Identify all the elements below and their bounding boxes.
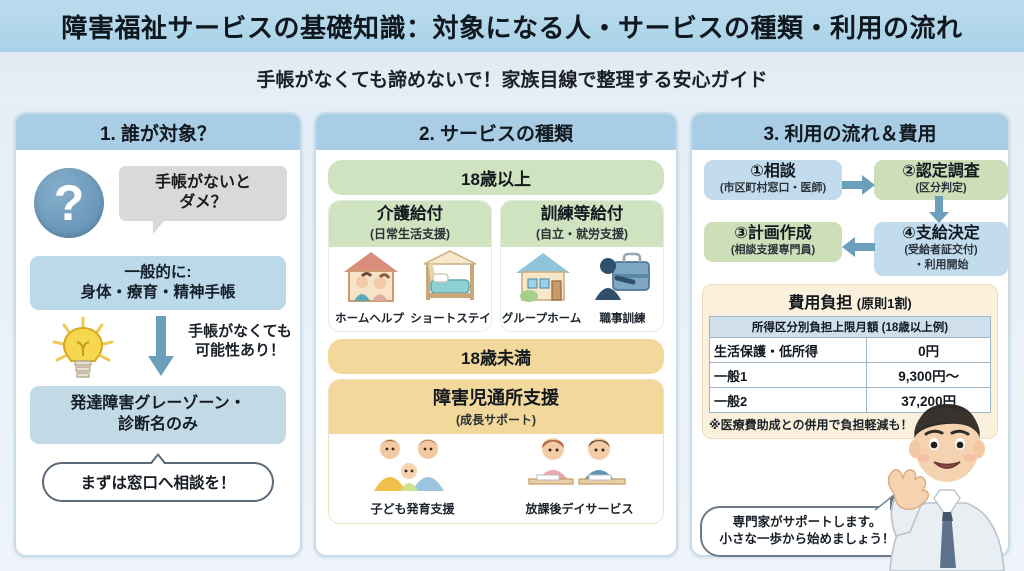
card-body-1: ? 手帳がないと ダメ？ 一般的に: 身体・療育・精神手帳 xyxy=(16,150,300,555)
cost-title-note: (原則1割) xyxy=(857,296,912,311)
flow-arrow-down-icon xyxy=(928,196,950,224)
general-criteria-line1: 一般的に: xyxy=(34,263,282,283)
child-service-sub: (成長サポート) xyxy=(331,411,661,428)
result-line1: 発達障害グレーゾーン・ xyxy=(34,394,282,415)
infographic-page: 障害福祉サービスの基礎知識：対象になる人・サービスの種類・利用の流れ 手帳がなく… xyxy=(0,0,1024,571)
cost-title-main: 費用負担 xyxy=(788,295,852,312)
flow-step-4-title: ④支給決定 xyxy=(878,225,1004,243)
service-training-labels: グループホーム 職事訓練 xyxy=(501,309,663,331)
cost-table-header: 所得区分別負担上限月額 (18歳以上例) xyxy=(710,317,991,338)
flow-step-3: ③計画作成 (相談支援専門員) xyxy=(704,222,842,262)
flow-step-2-title: ②認定調査 xyxy=(878,163,1004,181)
service-care-benefits: 介護給付 (日常生活支援) xyxy=(328,200,492,332)
service-care-sub: (日常生活支援) xyxy=(331,225,489,242)
flow-step-1: ①相談 (市区町村窓口・医師) xyxy=(704,160,842,200)
question-bubble-line1: 手帳がないと xyxy=(125,173,281,193)
flow-diagram: ①相談 (市区町村窓口・医師) ②認定調査 (区分判定) ④支給決定 (受給者証… xyxy=(702,160,998,280)
flow-step-3-title: ③計画作成 xyxy=(708,225,838,243)
card-heading-1: 1. 誰が対象？ xyxy=(16,114,300,150)
flow-step-1-sub: (市区町村窓口・医師) xyxy=(708,182,838,195)
flow-arrow-right-icon xyxy=(842,174,876,196)
page-subtitle: 手帳がなくても諦めないで！家族目線で整理する安心ガイド xyxy=(257,65,768,92)
card-heading-2: 2. サービスの種類 xyxy=(316,114,676,150)
smiling-man-waving-icon xyxy=(872,386,1022,571)
service-item-label: 職事訓練 xyxy=(582,309,663,331)
service-training-benefits: 訓練等給付 (自立・就労支援) xyxy=(500,200,664,332)
card-body-2: 18歳以上 介護給付 (日常生活支援) xyxy=(316,150,676,555)
cost-row-label: 一般1 xyxy=(710,363,867,388)
possibility-note-line2: 可能性あり！ xyxy=(176,341,302,360)
house-with-people-icon xyxy=(340,248,402,309)
service-care-head: 介護給付 (日常生活支援) xyxy=(329,201,491,247)
briefcase-person-icon xyxy=(591,248,653,309)
service-training-title: 訓練等給付 xyxy=(503,205,661,224)
cost-row-label: 生活保護・低所得 xyxy=(710,338,867,363)
bed-icon xyxy=(419,248,481,309)
child-service-icons xyxy=(329,434,663,498)
general-criteria-box: 一般的に: 身体・療育・精神手帳 xyxy=(30,256,286,310)
child-item-label: 放課後デイサービス xyxy=(496,498,663,523)
question-mark-icon: ? xyxy=(34,168,104,238)
service-training-head: 訓練等給付 (自立・就労支援) xyxy=(501,201,663,247)
down-arrow-icon xyxy=(146,316,168,378)
question-bubble-line2: ダメ？ xyxy=(125,193,281,213)
service-training-icons xyxy=(501,247,663,309)
flow-step-2-sub: (区分判定) xyxy=(878,182,1004,195)
child-item-label: 子ども発育支援 xyxy=(329,498,496,523)
question-row: ? 手帳がないと ダメ？ xyxy=(24,162,292,248)
lightbulb-icon xyxy=(46,316,120,385)
card-heading-3: 3. 利用の流れ＆費用 xyxy=(692,114,1008,150)
flow-step-2: ②認定調査 (区分判定) xyxy=(874,160,1008,200)
cta-consult-bubble: まずは窓口へ相談を！ xyxy=(42,462,274,502)
service-item-label: ホームヘルプ xyxy=(329,309,410,331)
possibility-note-line1: 手帳がなくても xyxy=(176,322,302,341)
adult-services-row: 介護給付 (日常生活支援) xyxy=(328,200,664,332)
subtitle-band: 手帳がなくても諦めないで！家族目線で整理する安心ガイド xyxy=(0,52,1024,104)
card-service-types: 2. サービスの種類 18歳以上 介護給付 (日常生活支援) xyxy=(314,112,678,557)
table-row: 生活保護・低所得 0円 xyxy=(710,338,991,363)
service-care-icons xyxy=(329,247,491,309)
possibility-note: 手帳がなくても 可能性あり！ xyxy=(176,322,302,360)
flow-step-4-sub-line2: ・利用開始 xyxy=(878,259,1004,272)
flow-arrow-left-icon xyxy=(840,236,876,258)
child-service-head: 障害児通所支援 (成長サポート) xyxy=(329,380,663,434)
flow-step-1-title: ①相談 xyxy=(708,163,838,181)
card-who-is-eligible: 1. 誰が対象？ ? 手帳がないと ダメ？ 一般的に: 身体・療育・精神手帳 xyxy=(14,112,302,557)
service-item-label: ショートステイ xyxy=(410,309,491,331)
cost-row-value: 9,300円～ xyxy=(867,363,991,388)
result-box: 発達障害グレーゾーン・ 診断名のみ xyxy=(30,386,286,444)
cost-row-label: 一般2 xyxy=(710,388,867,413)
table-row: 一般1 9,300円～ xyxy=(710,363,991,388)
cost-title: 費用負担 (原則1割) xyxy=(709,289,991,313)
service-item-label: グループホーム xyxy=(501,309,582,331)
page-title: 障害福祉サービスの基礎知識：対象になる人・サービスの種類・利用の流れ xyxy=(61,8,962,45)
cost-row-value: 0円 xyxy=(867,338,991,363)
title-band: 障害福祉サービスの基礎知識：対象になる人・サービスの種類・利用の流れ xyxy=(0,0,1024,52)
service-child-daycare: 障害児通所支援 (成長サポート) xyxy=(328,379,664,524)
possibility-row: 手帳がなくても 可能性あり！ xyxy=(24,314,292,384)
child-service-title: 障害児通所支援 xyxy=(331,384,661,410)
general-criteria-line2: 身体・療育・精神手帳 xyxy=(34,283,282,303)
family-with-baby-icon xyxy=(362,433,458,498)
cost-table-header-row: 所得区分別負担上限月額 (18歳以上例) xyxy=(710,317,991,338)
children-at-desk-icon xyxy=(523,433,631,498)
age-band-child: 18歳未満 xyxy=(328,339,664,374)
age-band-adult: 18歳以上 xyxy=(328,160,664,195)
question-speech-bubble: 手帳がないと ダメ？ xyxy=(119,166,287,221)
result-line2: 診断名のみ xyxy=(34,415,282,436)
service-training-sub: (自立・就労支援) xyxy=(503,225,661,242)
child-service-labels: 子ども発育支援 放課後デイサービス xyxy=(329,498,663,523)
flow-step-4-sub-line1: (受給者証交付) xyxy=(878,244,1004,257)
house-icon xyxy=(512,248,574,309)
flow-step-4: ④支給決定 (受給者証交付) ・利用開始 xyxy=(874,222,1008,276)
service-care-title: 介護給付 xyxy=(331,205,489,224)
service-care-labels: ホームヘルプ ショートステイ xyxy=(329,309,491,331)
flow-step-3-sub: (相談支援専門員) xyxy=(708,244,838,257)
